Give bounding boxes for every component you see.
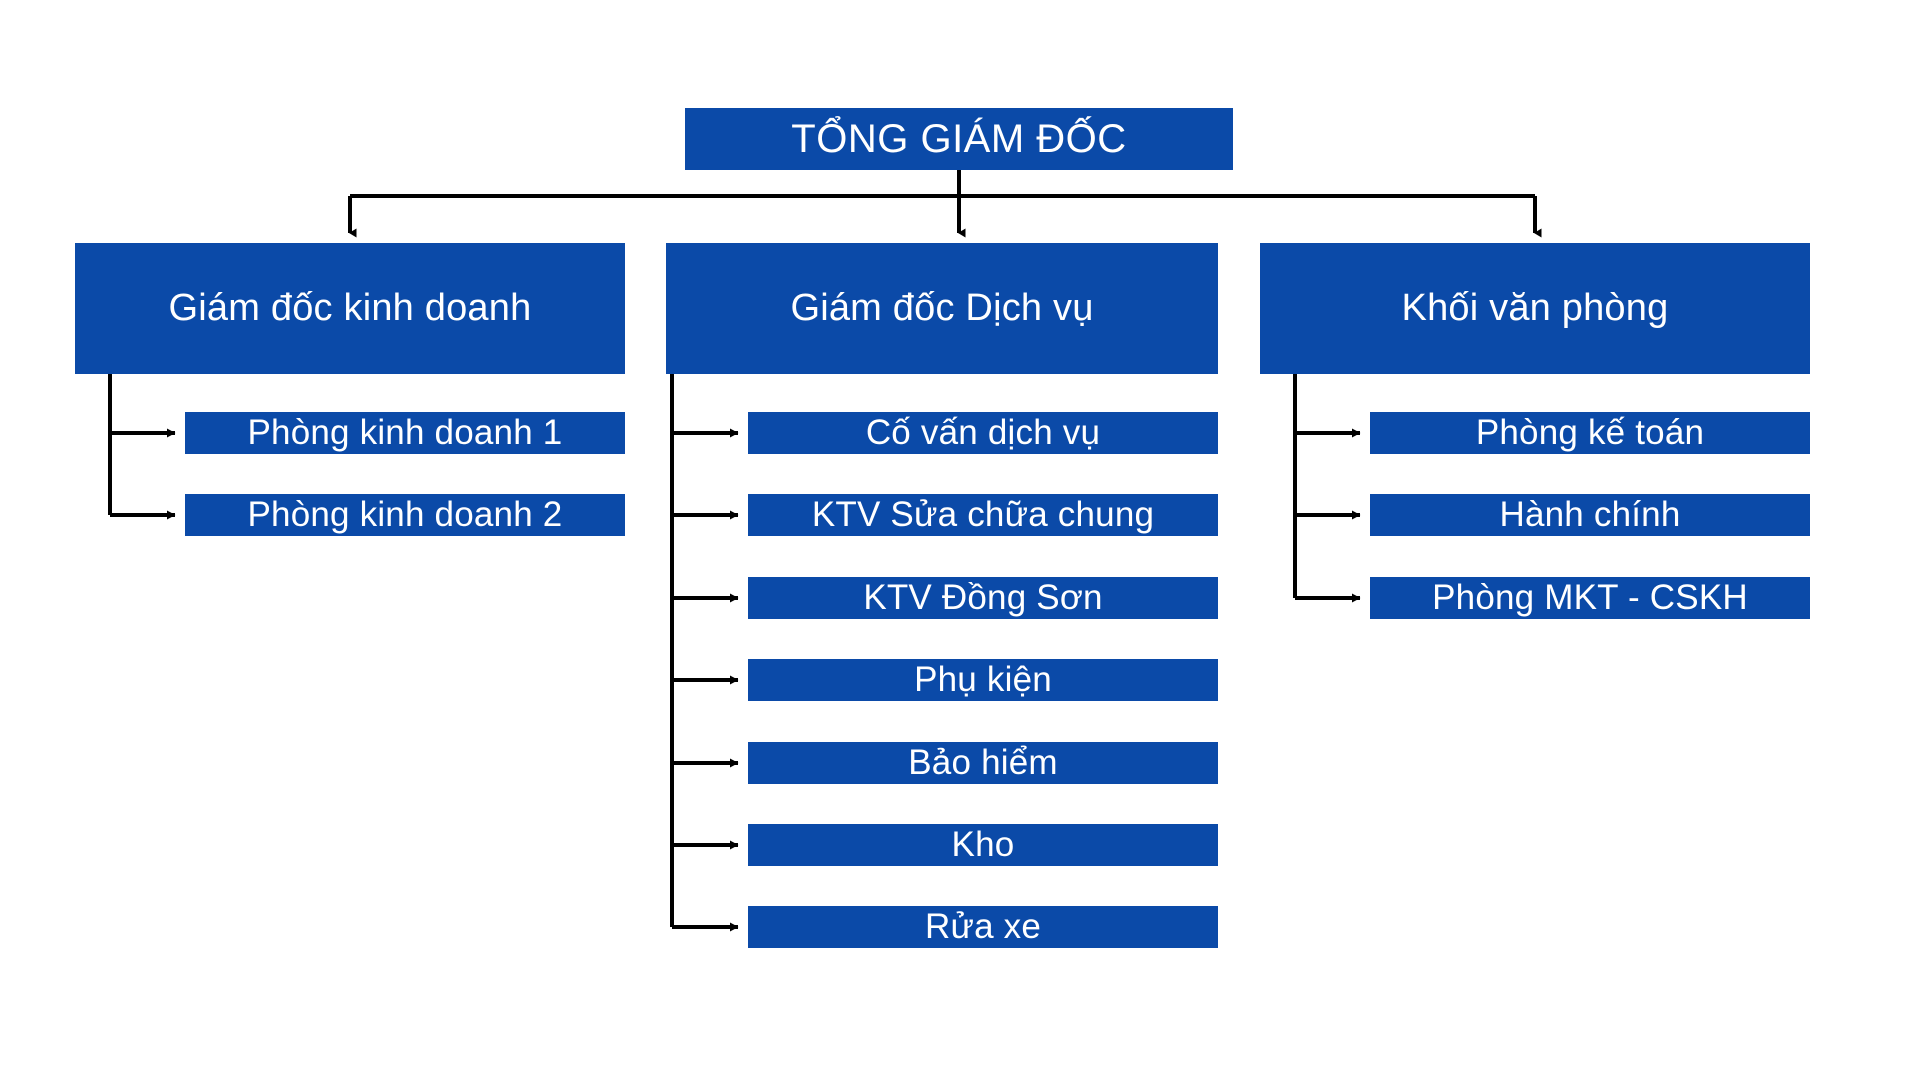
node-root-tong-giam-doc[interactable]: TỔNG GIÁM ĐỐC <box>685 108 1233 170</box>
node-head-sales[interactable]: Giám đốc kinh doanh <box>75 243 625 374</box>
node-office-child-2[interactable]: Hành chính <box>1370 494 1810 536</box>
root-to-level2-connectors <box>350 170 1535 233</box>
node-office-child-3[interactable]: Phòng MKT - CSKH <box>1370 577 1810 619</box>
node-service-child-2[interactable]: KTV Sửa chữa chung <box>748 494 1218 536</box>
node-service-child-3[interactable]: KTV Đồng Sơn <box>748 577 1218 619</box>
node-service-child-4[interactable]: Phụ kiện <box>748 659 1218 701</box>
office-branch-connectors <box>1295 374 1360 598</box>
node-office-child-1[interactable]: Phòng kế toán <box>1370 412 1810 454</box>
node-sales-child-2[interactable]: Phòng kinh doanh 2 <box>185 494 625 536</box>
node-head-service[interactable]: Giám đốc Dịch vụ <box>666 243 1218 374</box>
node-service-child-6[interactable]: Kho <box>748 824 1218 866</box>
node-service-child-5[interactable]: Bảo hiểm <box>748 742 1218 784</box>
org-chart-canvas: TỔNG GIÁM ĐỐC Giám đốc kinh doanh Giám đ… <box>0 0 1920 1080</box>
service-branch-connectors <box>672 374 738 927</box>
node-service-child-7[interactable]: Rửa xe <box>748 906 1218 948</box>
node-sales-child-1[interactable]: Phòng kinh doanh 1 <box>185 412 625 454</box>
node-service-child-1[interactable]: Cố vấn dịch vụ <box>748 412 1218 454</box>
node-head-office[interactable]: Khối văn phòng <box>1260 243 1810 374</box>
sales-branch-connectors <box>110 374 175 515</box>
